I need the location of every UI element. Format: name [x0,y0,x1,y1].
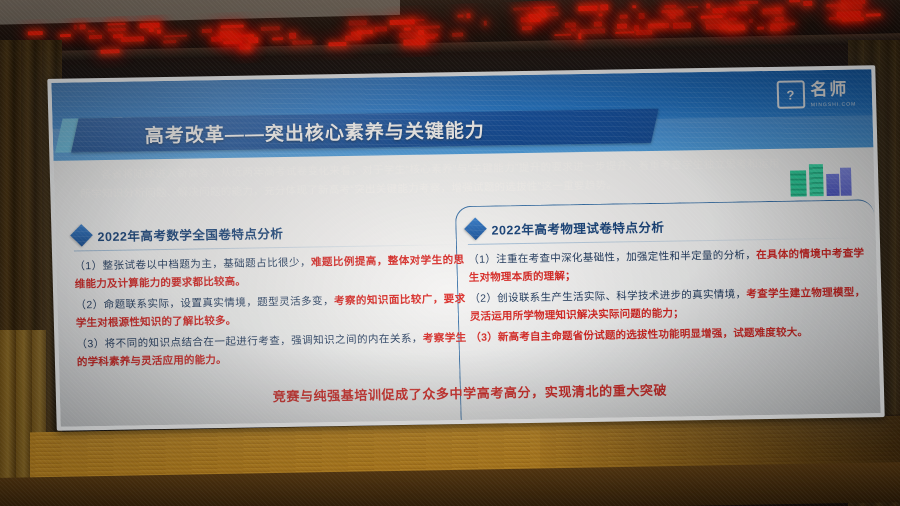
brand-logo: ? 名师 MINGSHI.COM [776,80,856,109]
physics-section-header: 2022年高考物理试卷特点分析 [467,209,864,242]
math-item-1-black: （1）整张试卷以中档题为主，基础题占比很少， [74,257,311,273]
led-segment [739,1,758,4]
math-section-header: 2022年高考数学全国卷特点分析 [73,216,464,248]
led-segment [202,29,212,33]
physics-item-2: （2）创设联系生产生活实际、科学技术进步的真实情境，考查学生建立物理模型，灵活运… [469,283,866,326]
diamond-bullet-icon [70,224,93,247]
led-segment [89,35,102,39]
led-segment [866,13,881,17]
led-segment [741,5,746,8]
led-segment [749,19,753,23]
slide-intro-paragraph: 各省将陆续进入新高考，从近两年高考试卷变化来看，对于学生“核心素养”与“关键能力… [80,155,781,205]
led-segment [28,31,43,35]
slide-body: 2022年高考数学全国卷特点分析 （1）整张试卷以中档题为主，基础题占比很少，难… [55,209,880,427]
led-segment [770,26,781,32]
led-segment [701,15,723,19]
led-segment [272,37,283,40]
led-segment [789,0,800,3]
led-segment [706,3,710,8]
led-segment [841,6,845,8]
physics-item-1-black: （1）注重在考查中深化基础性，加强定性和半定量的分析， [468,249,756,266]
led-segment [349,20,367,26]
led-segment [404,27,411,31]
led-segment [452,33,463,37]
led-segment [221,25,244,29]
led-segment [415,25,440,28]
led-segment [598,13,602,16]
led-segment [554,34,571,37]
math-item-2: （2）命题联系实际，设置真实情境，题型灵活多变，考察的知识面比较广，要求学生对根… [75,290,466,333]
led-segment [163,40,176,44]
physics-item-3: （3）新高考自主命题省份试题的选拔性功能明显增强，试题难度较大。 [470,323,866,348]
led-segment [536,12,558,17]
led-segment [565,22,576,28]
led-segment [164,35,187,38]
led-segment [328,42,346,47]
led-segment [712,8,727,13]
led-segment [60,34,71,37]
led-segment [571,28,576,31]
led-segment [513,7,530,11]
column-physics: 2022年高考物理试卷特点分析 （1）注重在考查中深化基础性，加强定性和半定量的… [467,209,867,350]
led-segment [664,5,676,8]
led-segment [157,30,161,34]
led-segment [667,11,683,15]
led-segment [632,5,636,8]
led-segment [634,25,639,31]
physics-heading-label: 2022年高考物理试卷特点分析 [491,216,664,238]
column-math: 2022年高考数学全国卷特点分析 （1）整张试卷以中档题为主，基础题占比很少，难… [73,216,467,375]
led-segment [594,21,602,26]
led-segment [88,30,95,33]
led-segment [522,26,532,31]
physics-item-2-black: （2）创设联系生产生活实际、科学技术进步的真实情境， [469,288,746,305]
led-segment [803,1,812,6]
led-segment [617,24,627,29]
led-segment [74,25,78,30]
led-segment [289,33,297,39]
led-segment [639,13,645,19]
math-item-3: （3）将不同的知识点结合在一起进行考查，强调知识之间的内在关系，考察学生的学科素… [76,329,467,372]
math-item-2-black: （2）命题联系实际，设置真实情境，题型灵活多变， [75,295,334,311]
diamond-bullet-icon [464,218,487,241]
led-segment [149,27,154,33]
led-segment [108,28,126,32]
led-segment [261,26,280,31]
led-segment [80,24,86,29]
led-segment [375,26,387,31]
led-segment [245,46,250,49]
led-segment [357,30,372,35]
led-segment [762,10,781,15]
projection-screen: ? 名师 MINGSHI.COM 高考改革——突出核心素养与关键能力 各省将陆续… [47,65,884,431]
led-segment [600,4,608,10]
math-item-1: （1）整张试卷以中档题为主，基础题占比很少，难题比例提高，整体对学生的思维能力及… [74,251,465,294]
led-segment [705,20,728,26]
slide-intro-text: 各省将陆续进入新高考，从近两年高考试卷变化来看，对于学生“核心素养”与“关键能力… [80,158,780,201]
led-segment [345,35,361,41]
screen-surface: ? 名师 MINGSHI.COM 高考改革——突出核心素养与关键能力 各省将陆续… [51,69,880,426]
led-segment [399,32,421,37]
led-segment [108,23,126,26]
led-segment [775,17,784,21]
led-segment [615,31,634,34]
led-segment [842,17,864,22]
led-segment [466,13,470,18]
led-segment [248,37,258,43]
led-segment [729,17,737,21]
led-segment [687,6,698,8]
led-segment [121,36,144,42]
presentation-slide: ? 名师 MINGSHI.COM 高考改革——突出核心素养与关键能力 各省将陆续… [51,69,880,426]
led-segment [837,11,861,18]
led-segment [580,28,605,34]
logo-mark-icon: ? [776,80,805,108]
led-segment [620,14,628,18]
logo-subtext: MINGSHI.COM [811,101,857,108]
led-segment [292,40,312,45]
led-segment [457,15,463,18]
led-segment [650,23,665,26]
led-segment [757,26,764,29]
led-segment [673,22,691,28]
led-segment [403,39,425,46]
logo-name: 名师 [810,79,849,99]
math-heading-label: 2022年高考数学全国卷特点分析 [97,223,283,245]
math-item-3-black: （3）将不同的知识点结合在一起进行考查，强调知识之间的内在关系， [76,333,423,351]
physics-item-1: （1）注重在考查中深化基础性，加强定性和半定量的分析，在具体的情境中考查学生对物… [468,244,865,287]
led-segment [484,21,487,26]
led-segment [100,49,119,53]
led-segment [521,17,533,23]
auditorium-scene: ? 名师 MINGSHI.COM 高考改革——突出核心素养与关键能力 各省将陆续… [0,0,900,506]
slide-title: 高考改革——突出核心素养与关键能力 [144,116,485,149]
bar-chart-decoration-icon [790,162,853,197]
led-segment [390,19,415,25]
led-segment [228,36,237,39]
